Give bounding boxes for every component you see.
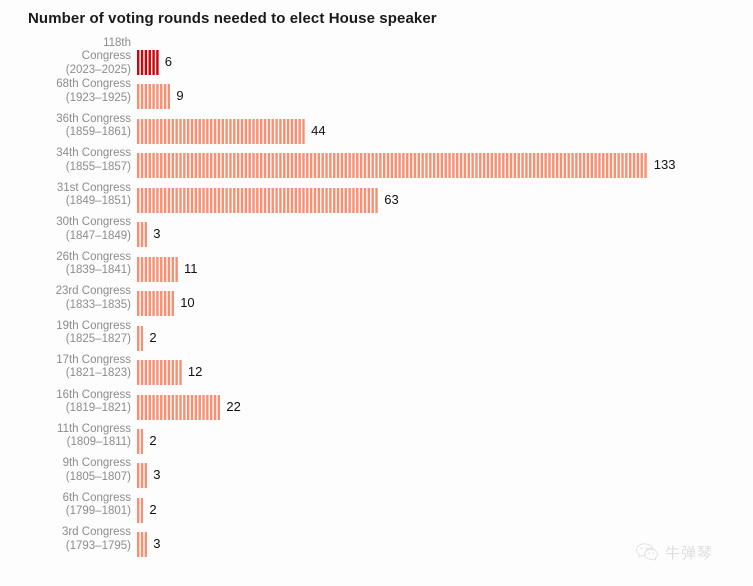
wechat-icon bbox=[636, 543, 658, 562]
bar-track bbox=[137, 84, 170, 109]
bar-value-label: 2 bbox=[149, 330, 156, 345]
bar-value-label: 6 bbox=[165, 54, 172, 69]
bar-value-label: 10 bbox=[180, 295, 194, 310]
chart-title: Number of voting rounds needed to elect … bbox=[28, 10, 437, 27]
bar bbox=[137, 119, 305, 144]
bar bbox=[137, 429, 143, 454]
bar-category-label: 36th Congress (1859–1861) bbox=[0, 113, 131, 140]
bar-category-label: 17th Congress (1821–1823) bbox=[0, 354, 131, 381]
bar-value-label: 2 bbox=[149, 502, 156, 517]
bar bbox=[137, 50, 159, 75]
bar-track bbox=[137, 50, 159, 75]
bar-track bbox=[137, 429, 143, 454]
chart-plot-area: 118th Congress (2023–2025)668th Congress… bbox=[0, 50, 753, 580]
bar bbox=[137, 291, 174, 316]
bar-track bbox=[137, 222, 147, 247]
bar-category-label: 34th Congress (1855–1857) bbox=[0, 147, 131, 174]
bar-category-label: 68th Congress (1923–1925) bbox=[0, 78, 131, 105]
bar-category-label: 26th Congress (1839–1841) bbox=[0, 251, 131, 278]
bar bbox=[137, 188, 378, 213]
watermark-text: 牛弹琴 bbox=[665, 542, 713, 563]
bar-category-label: 11th Congress (1809–1811) bbox=[0, 423, 131, 450]
bar-value-label: 3 bbox=[153, 536, 160, 551]
bar bbox=[137, 326, 143, 351]
bar-category-label: 23rd Congress (1833–1835) bbox=[0, 285, 131, 312]
bar-track bbox=[137, 360, 182, 385]
bar-track bbox=[137, 119, 305, 144]
bar-category-label: 19th Congress (1825–1827) bbox=[0, 320, 131, 347]
bar bbox=[137, 84, 170, 109]
bar-value-label: 3 bbox=[153, 226, 160, 241]
bar-value-label: 44 bbox=[311, 123, 325, 138]
bar-track bbox=[137, 291, 174, 316]
watermark: 牛弹琴 bbox=[636, 542, 713, 563]
bar-category-label: 3rd Congress (1793–1795) bbox=[0, 526, 131, 553]
bar-category-label: 16th Congress (1819–1821) bbox=[0, 389, 131, 416]
bar-value-label: 63 bbox=[384, 192, 398, 207]
bar-track bbox=[137, 498, 143, 523]
bar-value-label: 133 bbox=[654, 157, 676, 172]
bar-track bbox=[137, 463, 147, 488]
bar-category-label: 30th Congress (1847–1849) bbox=[0, 216, 131, 243]
bar-value-label: 11 bbox=[184, 261, 198, 276]
bar-category-label: 31st Congress (1849–1851) bbox=[0, 182, 131, 209]
bar-track bbox=[137, 395, 220, 420]
bar bbox=[137, 395, 220, 420]
bar-track bbox=[137, 188, 378, 213]
bar bbox=[137, 257, 178, 282]
bar-track bbox=[137, 257, 178, 282]
bar-value-label: 3 bbox=[153, 467, 160, 482]
bar-value-label: 12 bbox=[188, 364, 202, 379]
bar-value-label: 22 bbox=[226, 399, 240, 414]
bar bbox=[137, 463, 147, 488]
bar-track bbox=[137, 532, 147, 557]
bar bbox=[137, 360, 182, 385]
bar-category-label: 9th Congress (1805–1807) bbox=[0, 457, 131, 484]
bar bbox=[137, 153, 648, 178]
bar bbox=[137, 498, 143, 523]
bar bbox=[137, 222, 147, 247]
bar-value-label: 9 bbox=[176, 88, 183, 103]
chart-container: Number of voting rounds needed to elect … bbox=[0, 0, 753, 586]
bar-track bbox=[137, 153, 648, 178]
bar-category-label: 118th Congress (2023–2025) bbox=[0, 37, 131, 77]
bar-value-label: 2 bbox=[149, 433, 156, 448]
bar-category-label: 6th Congress (1799–1801) bbox=[0, 492, 131, 519]
bar-track bbox=[137, 326, 143, 351]
bar bbox=[137, 532, 147, 557]
